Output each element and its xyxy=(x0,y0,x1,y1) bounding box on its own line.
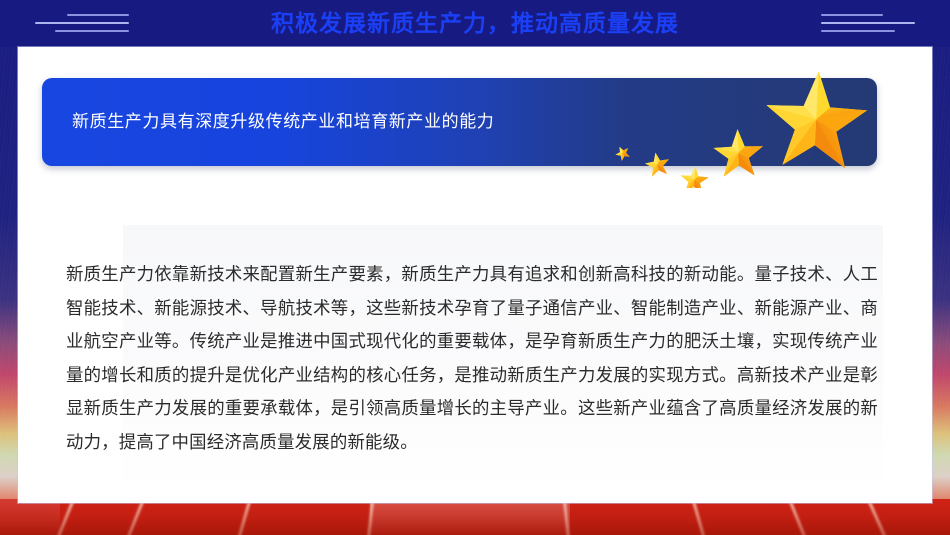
bottom-red-ribbon xyxy=(0,499,950,535)
slide-root: 积极发展新质生产力，推动高质量发展 新质生产力具有深度升级传统产业和培育新产业的… xyxy=(0,0,950,535)
page-title: 积极发展新质生产力，推动高质量发展 xyxy=(0,0,950,47)
section-banner-label: 新质生产力具有深度升级传统产业和培育新产业的能力 xyxy=(72,78,494,166)
body-paragraph: 新质生产力依靠新技术来配置新生产要素，新质生产力具有追求和创新高科技的新动能。量… xyxy=(66,258,878,459)
section-banner: 新质生产力具有深度升级传统产业和培育新产业的能力 xyxy=(42,78,877,166)
